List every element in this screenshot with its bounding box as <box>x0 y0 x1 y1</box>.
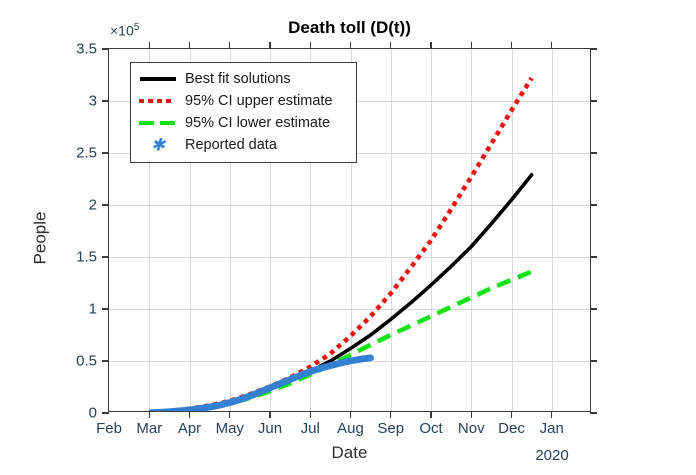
x-axis-tick-label: May <box>216 420 244 437</box>
y-axis-tick <box>102 100 109 101</box>
y-axis-tick-right <box>590 256 597 257</box>
x-axis-tick <box>430 411 431 418</box>
x-axis-tick-top <box>189 42 190 49</box>
x-axis-tick-top <box>390 42 391 49</box>
legend-item-ci-upper[interactable]: 95% CI upper estimate <box>138 90 349 112</box>
x-axis-tick <box>229 411 230 418</box>
x-axis-tick-top <box>471 42 472 49</box>
y-axis-tick-right <box>590 48 597 49</box>
x-axis-tick <box>189 411 190 418</box>
x-axis-tick-top <box>350 42 351 49</box>
x-axis-tick-label: Feb <box>96 420 122 437</box>
y-axis-tick-right <box>590 204 597 205</box>
y-axis-tick-label: 1 <box>89 301 97 318</box>
x-axis-tick-top <box>229 42 230 49</box>
legend-label: Reported data <box>185 137 277 153</box>
y-axis-tick <box>102 412 109 413</box>
legend-swatch-dashed-line-icon <box>138 114 178 132</box>
y-axis-tick-label: 3.5 <box>76 41 97 58</box>
x-axis-tick <box>350 411 351 418</box>
y-axis-exponent-label: ×105 <box>110 22 139 39</box>
y-axis-tick-label: 3 <box>89 93 97 110</box>
x-axis-tick <box>511 411 512 418</box>
y-axis-tick-right <box>590 308 597 309</box>
y-axis-tick <box>102 360 109 361</box>
x-axis-tick-label: Mar <box>136 420 162 437</box>
series-best-fit-line <box>149 175 531 411</box>
legend-item-best-fit[interactable]: Best fit solutions <box>138 68 349 90</box>
x-axis-tick <box>471 411 472 418</box>
x-axis-tick-top <box>149 42 150 49</box>
y-axis-title: People <box>30 211 50 264</box>
x-axis-tick-label: Jun <box>258 420 282 437</box>
x-axis-tick-label: Apr <box>178 420 201 437</box>
series-ci-lower-line <box>149 272 531 411</box>
y-axis-tick-label: 2 <box>89 197 97 214</box>
x-axis-tick <box>551 411 552 418</box>
legend-item-ci-lower[interactable]: 95% CI lower estimate <box>138 112 349 134</box>
x-axis-tick-top <box>511 42 512 49</box>
y-axis-tick-right <box>590 100 597 101</box>
y-axis-tick <box>102 48 109 49</box>
legend-item-reported-data[interactable]: ✱ Reported data <box>138 134 349 156</box>
x-axis-tick-top <box>430 42 431 49</box>
x-axis-tick-label: Oct <box>419 420 442 437</box>
series-reported-data-markers <box>148 354 374 411</box>
y-axis-tick-right <box>590 360 597 361</box>
x-axis-tick-label: Dec <box>498 420 525 437</box>
y-axis-exponent-base: ×10 <box>110 23 134 39</box>
y-axis-tick <box>102 308 109 309</box>
x-axis-tick <box>269 411 270 418</box>
legend-label: 95% CI lower estimate <box>185 115 330 131</box>
legend-swatch-solid-line-icon <box>138 70 178 88</box>
legend-label: 95% CI upper estimate <box>185 93 333 109</box>
x-axis-tick <box>310 411 311 418</box>
y-axis-exponent-power: 5 <box>134 22 140 33</box>
y-axis-tick <box>102 152 109 153</box>
y-axis-tick-right <box>590 152 597 153</box>
x-axis-year-label: 2020 <box>512 447 592 464</box>
figure-canvas: Death toll (D(t)) ×105 People Date 2020 … <box>0 0 696 475</box>
legend-label: Best fit solutions <box>185 71 291 87</box>
x-axis-tick-label: Aug <box>337 420 364 437</box>
x-axis-tick-top <box>310 42 311 49</box>
x-axis-tick-label: Jul <box>301 420 320 437</box>
x-axis-tick-top <box>269 42 270 49</box>
chart-legend: Best fit solutions 95% CI upper estimate… <box>130 62 357 163</box>
x-axis-tick-top <box>551 42 552 49</box>
legend-swatch-asterisk-marker-icon: ✱ <box>138 136 178 154</box>
y-axis-tick-label: 2.5 <box>76 145 97 162</box>
y-axis-tick-label: 0 <box>89 405 97 422</box>
chart-title: Death toll (D(t)) <box>108 18 591 38</box>
legend-swatch-dotted-line-icon <box>138 92 178 110</box>
y-axis-tick-right <box>590 412 597 413</box>
x-axis-tick <box>390 411 391 418</box>
y-axis-tick-label: 0.5 <box>76 353 97 370</box>
x-axis-tick <box>149 411 150 418</box>
y-axis-tick <box>102 204 109 205</box>
x-axis-tick-label: Jan <box>540 420 564 437</box>
y-axis-tick <box>102 256 109 257</box>
y-axis-tick-label: 1.5 <box>76 249 97 266</box>
x-axis-tick-label: Nov <box>458 420 485 437</box>
x-axis-tick-label: Sep <box>377 420 404 437</box>
